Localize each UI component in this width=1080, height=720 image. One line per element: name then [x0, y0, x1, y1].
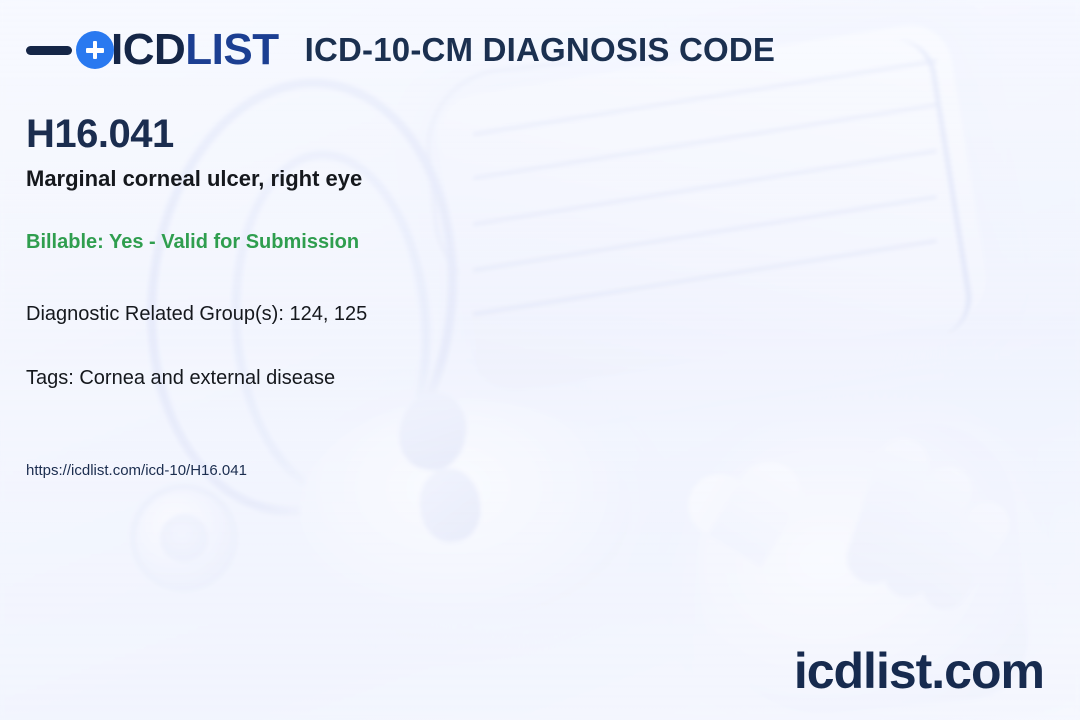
source-url[interactable]: https://icdlist.com/icd-10/H16.041 — [26, 462, 726, 480]
hand-finger-shape — [914, 494, 1018, 618]
plus-circle-icon — [76, 31, 114, 69]
diagnosis-description: Marginal corneal ulcer, right eye — [26, 166, 726, 192]
dash-icon — [26, 46, 72, 55]
hand-finger-shape — [876, 459, 981, 606]
plus-icon-vertical-bar — [93, 41, 98, 59]
logo-word-icd: ICD — [111, 28, 185, 72]
tags-line: Tags: Cornea and external disease — [26, 366, 726, 390]
icdlist-logo[interactable]: ICD LIST — [26, 28, 279, 72]
logo-word-list: LIST — [185, 28, 278, 72]
diagnostic-related-groups: Diagnostic Related Group(s): 124, 125 — [26, 302, 726, 326]
code-details: H16.041 Marginal corneal ulcer, right ey… — [26, 112, 726, 480]
header: ICD LIST ICD-10-CM DIAGNOSIS CODE — [0, 0, 1080, 100]
hand-finger-shape — [840, 432, 936, 591]
icd-code-card: ICD LIST ICD-10-CM DIAGNOSIS CODE H16.04… — [0, 0, 1080, 720]
page-title: ICD-10-CM DIAGNOSIS CODE — [305, 31, 776, 69]
stethoscope-chestpiece-inner-shape — [160, 514, 208, 562]
stethoscope-chestpiece-shape — [136, 490, 232, 586]
footer-brand: icdlist.com — [794, 646, 1044, 696]
diagnosis-code: H16.041 — [26, 112, 726, 156]
billable-status-badge: Billable: Yes - Valid for Submission — [26, 230, 726, 254]
